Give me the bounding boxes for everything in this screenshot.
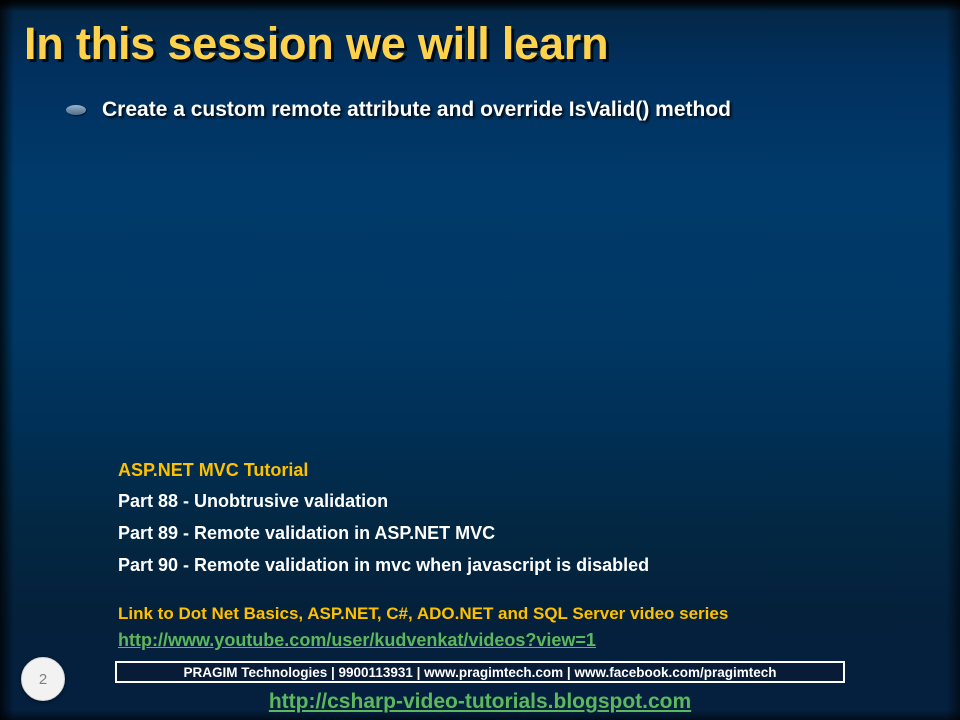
oval-bullet-icon <box>66 105 86 115</box>
tutorial-series-block: ASP.NET MVC Tutorial Part 88 - Unobtrusi… <box>118 460 918 587</box>
slide-edge-left <box>0 0 14 720</box>
series-heading: ASP.NET MVC Tutorial <box>118 460 918 481</box>
bullet-text: Create a custom remote attribute and ove… <box>102 98 731 122</box>
list-item: Create a custom remote attribute and ove… <box>66 98 926 122</box>
slide-edge-top <box>0 0 960 12</box>
series-part-88: Part 88 - Unobtrusive validation <box>118 491 918 512</box>
video-series-link-block: Link to Dot Net Basics, ASP.NET, C#, ADO… <box>118 604 938 651</box>
slide-number-badge: 2 <box>21 657 65 701</box>
slide-title: In this session we will learn <box>24 18 904 70</box>
series-part-89: Part 89 - Remote validation in ASP.NET M… <box>118 523 918 544</box>
contact-footer-text: PRAGIM Technologies | 9900113931 | www.p… <box>183 665 776 680</box>
blog-link-container: http://csharp-video-tutorials.blogspot.c… <box>0 690 960 714</box>
video-series-link-label: Link to Dot Net Basics, ASP.NET, C#, ADO… <box>118 604 938 624</box>
youtube-channel-link[interactable]: http://www.youtube.com/user/kudvenkat/vi… <box>118 630 596 651</box>
presentation-slide: In this session we will learn Create a c… <box>0 0 960 720</box>
blog-link[interactable]: http://csharp-video-tutorials.blogspot.c… <box>269 690 691 714</box>
contact-footer-bar: PRAGIM Technologies | 9900113931 | www.p… <box>115 661 845 683</box>
bullet-list: Create a custom remote attribute and ove… <box>66 98 926 128</box>
slide-edge-right <box>946 0 960 720</box>
series-part-90: Part 90 - Remote validation in mvc when … <box>118 555 918 576</box>
